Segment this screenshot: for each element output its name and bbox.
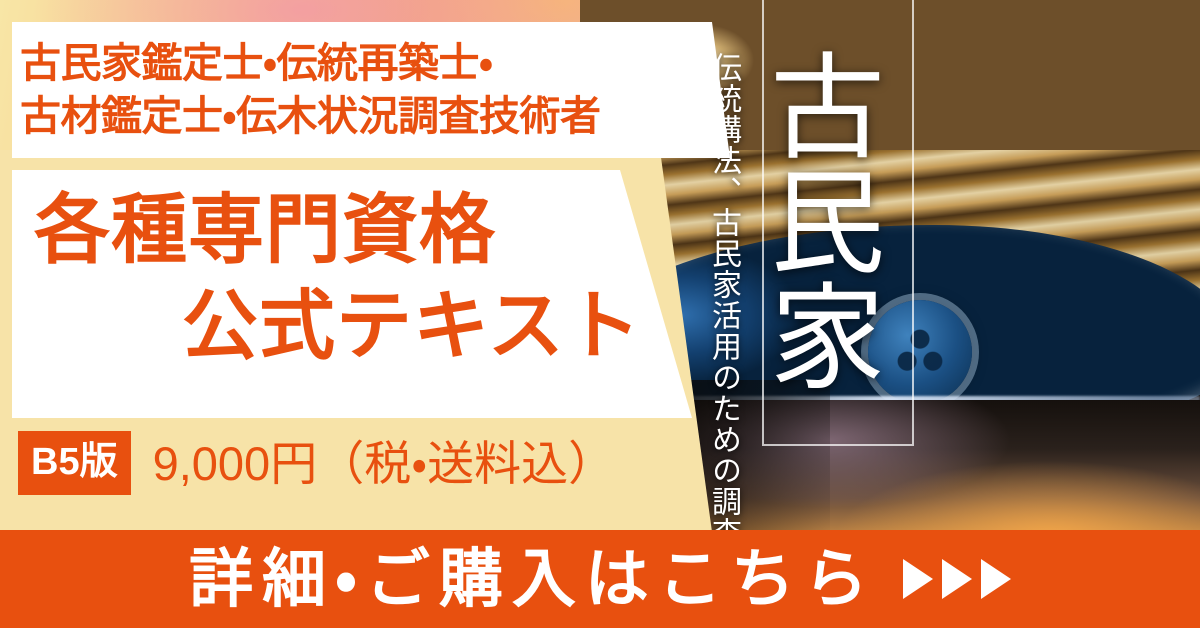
- cta-arrows: [903, 559, 1011, 599]
- cta-label[interactable]: 詳細・ご購入はこちら: [189, 547, 877, 611]
- price-amount: 9,000円（税・送料込）: [153, 440, 616, 487]
- triangle-right-icon: [903, 559, 933, 599]
- price-row: B5版 9,000円（税・送料込）: [18, 430, 615, 496]
- book-cover-title: 古民家: [770, 4, 910, 444]
- headline-line-2: 公式テキスト: [182, 288, 642, 366]
- promo-banner: 伝統構法、古民家活用のための調査と再生の 古民家 古民家鑑定士・伝統再築士・ 古…: [0, 0, 1200, 628]
- qualifications-line-2: 古材鑑定士・伝木状況調査技術者: [20, 90, 720, 143]
- cta-bar[interactable]: 詳細・ご購入はこちら: [0, 530, 1200, 628]
- qualifications-line-1: 古民家鑑定士・伝統再築士・: [20, 37, 720, 90]
- triangle-right-icon: [942, 559, 972, 599]
- headline-text: 各種専門資格 公式テキスト: [12, 170, 680, 418]
- format-badge: B5版: [18, 431, 131, 495]
- qualifications-text: 古民家鑑定士・伝統再築士・ 古材鑑定士・伝木状況調査技術者: [20, 28, 720, 152]
- triangle-right-icon: [981, 559, 1011, 599]
- headline-line-1: 各種専門資格: [34, 192, 496, 270]
